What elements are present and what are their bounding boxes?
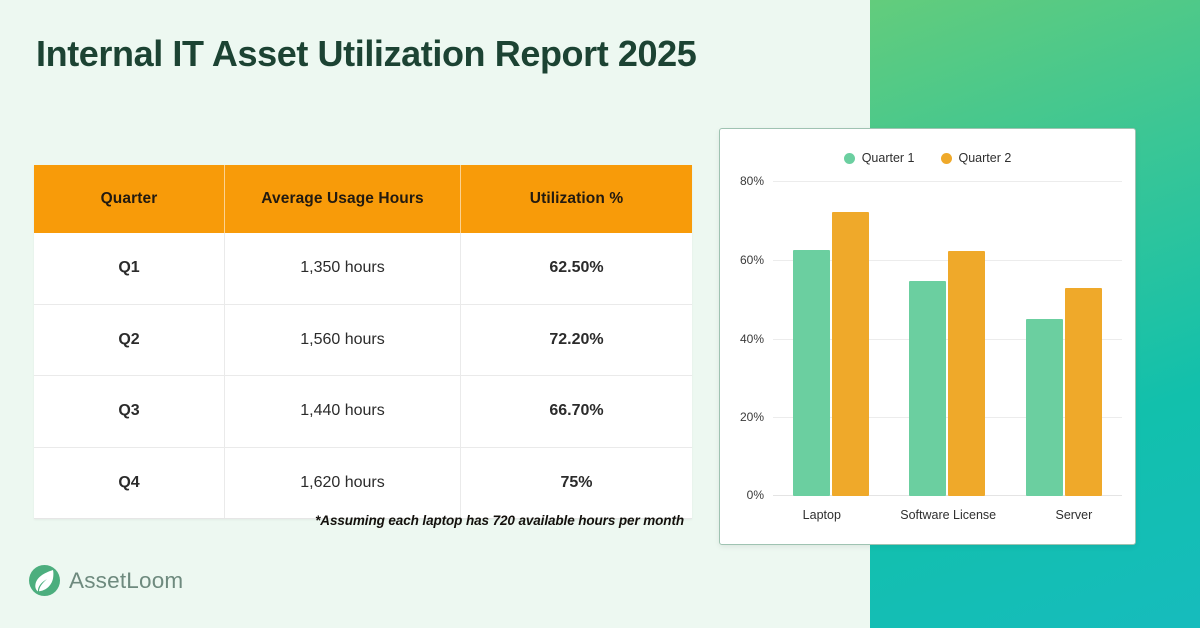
y-axis-tick-label: 20%: [740, 410, 764, 424]
legend-item-quarter-2[interactable]: Quarter 2: [941, 151, 1012, 165]
bar-laptop-quarter-2[interactable]: [832, 212, 869, 496]
y-axis-tick-label: 60%: [740, 253, 764, 267]
table-footnote: *Assuming each laptop has 720 available …: [34, 513, 684, 528]
bar-software-license-quarter-2[interactable]: [948, 251, 985, 496]
chart-x-axis-labels: Laptop Software License Server: [773, 508, 1122, 522]
bar-group-software-license: [909, 181, 985, 496]
table-row: Q4 1,620 hours 75%: [34, 447, 692, 519]
bar-server-quarter-1[interactable]: [1026, 319, 1063, 496]
table-header-quarter: Quarter: [34, 165, 225, 233]
page-title: Internal IT Asset Utilization Report 202…: [36, 33, 696, 75]
y-axis-tick-label: 0%: [747, 488, 764, 502]
bar-laptop-quarter-1[interactable]: [793, 250, 830, 496]
bar-group-server: [1026, 181, 1102, 496]
cell-utilization: 66.70%: [461, 376, 693, 448]
table-row: Q2 1,560 hours 72.20%: [34, 304, 692, 376]
cell-quarter: Q2: [34, 304, 225, 376]
table-row: Q1 1,350 hours 62.50%: [34, 233, 692, 304]
cell-quarter: Q1: [34, 233, 225, 304]
bar-software-license-quarter-1[interactable]: [909, 281, 946, 496]
x-axis-label-server: Server: [1055, 508, 1092, 522]
cell-hours: 1,350 hours: [225, 233, 461, 304]
cell-hours: 1,560 hours: [225, 304, 461, 376]
cell-hours: 1,440 hours: [225, 376, 461, 448]
table-header-average-usage-hours: Average Usage Hours: [225, 165, 461, 233]
table-row: Q3 1,440 hours 66.70%: [34, 376, 692, 448]
brand-name: AssetLoom: [69, 568, 183, 594]
cell-quarter: Q4: [34, 447, 225, 519]
cell-utilization: 62.50%: [461, 233, 693, 304]
utilization-table-wrapper: Quarter Average Usage Hours Utilization …: [34, 165, 684, 519]
chart-legend: Quarter 1 Quarter 2: [720, 151, 1135, 165]
chart-plot-area: 80% 60% 40% 20% 0%: [773, 181, 1122, 496]
bar-group-laptop: [793, 181, 869, 496]
leaf-glyph-icon: [34, 569, 55, 592]
y-axis-tick-label: 80%: [740, 174, 764, 188]
poster-canvas: Internal IT Asset Utilization Report 202…: [0, 0, 1200, 628]
cell-hours: 1,620 hours: [225, 447, 461, 519]
chart-bar-groups: [773, 181, 1122, 496]
legend-dot-icon: [844, 153, 855, 164]
utilization-table: Quarter Average Usage Hours Utilization …: [34, 165, 692, 519]
y-axis-tick-label: 40%: [740, 332, 764, 346]
cell-utilization: 72.20%: [461, 304, 693, 376]
bar-server-quarter-2[interactable]: [1065, 288, 1102, 496]
leaf-circle-icon: [29, 565, 60, 596]
cell-quarter: Q3: [34, 376, 225, 448]
table-header-row: Quarter Average Usage Hours Utilization …: [34, 165, 692, 233]
x-axis-label-laptop: Laptop: [803, 508, 841, 522]
legend-item-quarter-1[interactable]: Quarter 1: [844, 151, 915, 165]
table-header-utilization: Utilization %: [461, 165, 693, 233]
legend-label: Quarter 1: [862, 151, 915, 165]
cell-utilization: 75%: [461, 447, 693, 519]
brand-logo: AssetLoom: [29, 565, 183, 596]
x-axis-label-software-license: Software License: [900, 508, 996, 522]
legend-dot-icon: [941, 153, 952, 164]
chart-card: Quarter 1 Quarter 2 80% 60% 40% 20%: [719, 128, 1136, 545]
legend-label: Quarter 2: [959, 151, 1012, 165]
